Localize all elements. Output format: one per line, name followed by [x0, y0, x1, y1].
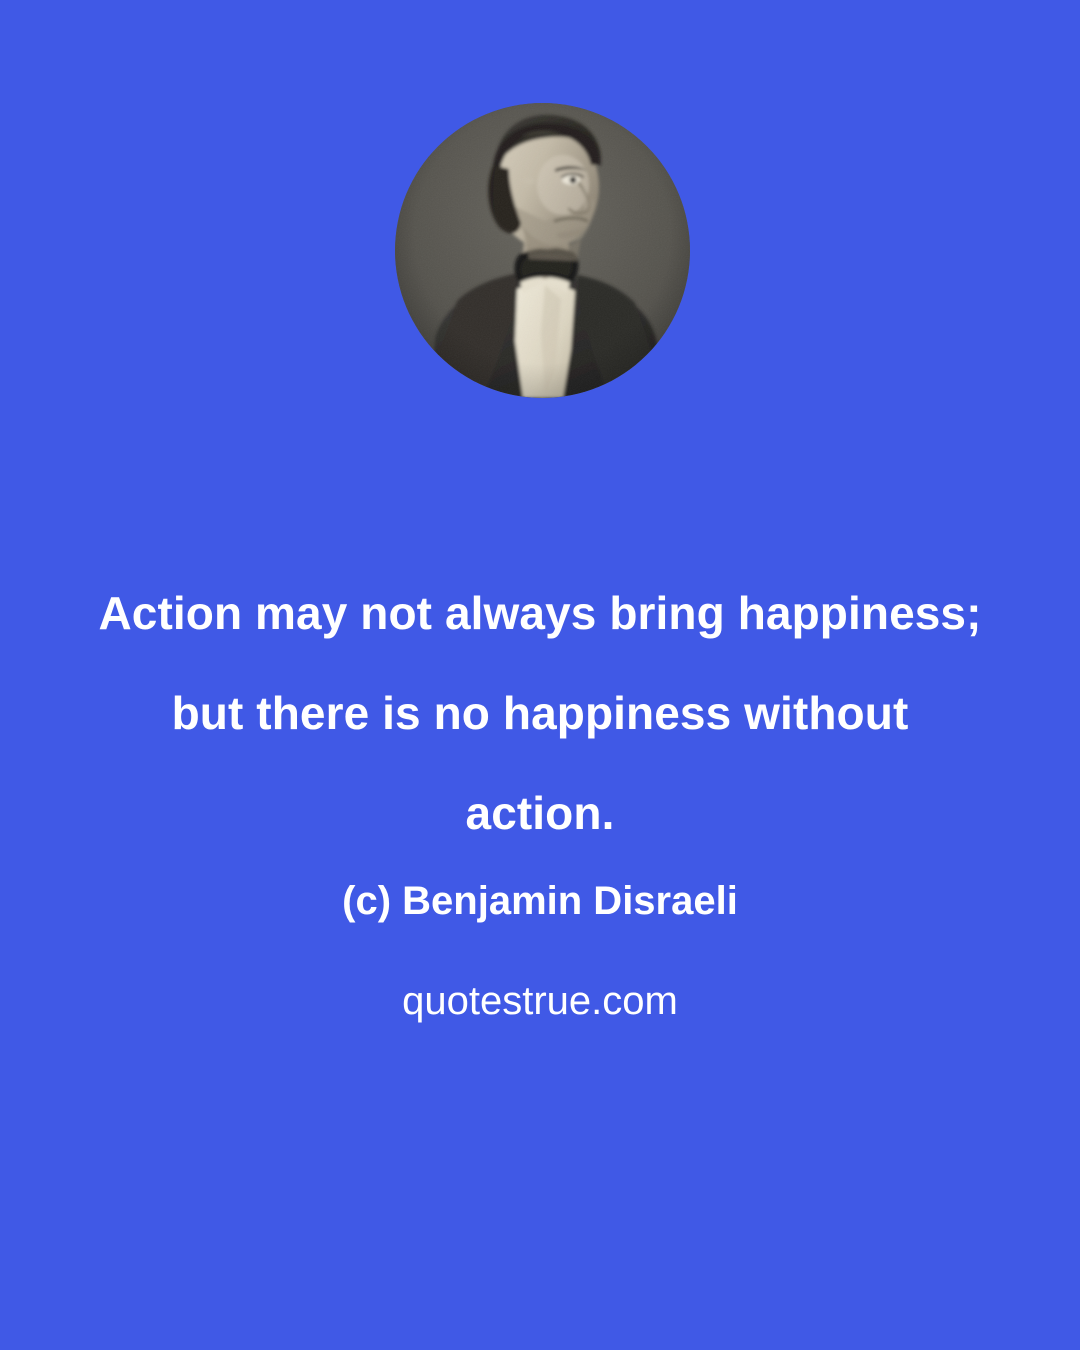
- quote-attribution: (c) Benjamin Disraeli: [0, 875, 1080, 927]
- author-portrait: [395, 103, 690, 398]
- quote-line-1: Action may not always bring happiness;: [0, 563, 1080, 663]
- quote-card: Action may not always bring happiness; b…: [0, 0, 1080, 1350]
- quote-line-2: but there is no happiness without: [0, 663, 1080, 763]
- quote-line-3: action.: [0, 763, 1080, 863]
- source-website: quotestrue.com: [0, 975, 1080, 1027]
- avatar: [395, 103, 690, 398]
- quote-text: Action may not always bring happiness; b…: [0, 563, 1080, 863]
